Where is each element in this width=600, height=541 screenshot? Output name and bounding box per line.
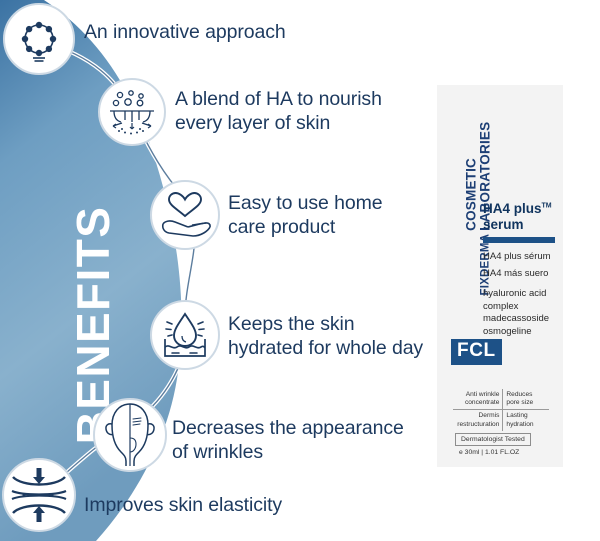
skin-absorption-icon [106, 86, 158, 138]
dermatologist-tested-badge: Dermatologist Tested [455, 433, 531, 446]
benefit-bubble-elasticity[interactable] [2, 458, 76, 532]
brand-fixderma: FIXDERMA [480, 234, 492, 296]
benefit-bubble-hydration[interactable] [150, 300, 220, 370]
product-name: HA4 plusTM serum [483, 201, 552, 232]
molecule-ring-icon [14, 14, 64, 64]
benefit-label-hydration: Keeps the skin hydrated for whole day [228, 313, 423, 361]
trademark-symbol: TM [542, 203, 552, 210]
product-name-french: HA4 plus sérum [483, 251, 551, 264]
benefit-label-wrinkles: Decreases the appearance of wrinkles [172, 417, 404, 465]
face-wrinkles-icon [101, 402, 159, 468]
claim-anti-wrinkle: Anti wrinkle concentrate [453, 389, 503, 410]
table-row: Anti wrinkle concentrate Reduces pore si… [453, 389, 549, 410]
benefit-bubble-innovative-approach[interactable] [3, 3, 75, 75]
product-volume: e 30ml | 1.01 FL.OZ [459, 449, 519, 456]
benefit-bubble-ha-blend[interactable] [98, 78, 166, 146]
skin-elasticity-icon [10, 467, 68, 523]
poster-canvas: BENEFITS An innovative approach [0, 0, 600, 541]
benefit-label-elasticity: Improves skin elasticity [84, 494, 282, 518]
claim-hydration: Lasting hydration [503, 410, 549, 431]
claim-pore-size: Reduces pore size [503, 389, 549, 410]
product-claims-table: Anti wrinkle concentrate Reduces pore si… [453, 389, 549, 431]
product-ingredients: hyaluronic acid complex madecassoside os… [483, 288, 549, 338]
fcl-logo: FCL [451, 339, 502, 365]
product-accent-rule [483, 237, 555, 243]
product-name-spanish: HA4 más suero [483, 268, 548, 281]
product-carton: FIXDERMA COSMETIC LABORATORIES HA4 plusT… [437, 85, 563, 467]
heart-in-hand-icon [159, 192, 211, 238]
claim-dermis: Dermis restructuration [453, 410, 503, 431]
benefit-label-innovative-approach: An innovative approach [84, 21, 286, 45]
benefit-bubble-easy-home-care[interactable] [150, 180, 220, 250]
table-row: Dermis restructuration Lasting hydration [453, 410, 549, 431]
benefit-label-easy-home-care: Easy to use home care product [228, 192, 383, 240]
benefit-label-ha-blend: A blend of HA to nourish every layer of … [175, 88, 382, 136]
benefit-bubble-wrinkles[interactable] [93, 398, 167, 472]
product-name-second: serum [483, 217, 524, 232]
product-name-main: HA4 plus [483, 201, 542, 216]
water-drop-icon [158, 310, 212, 360]
